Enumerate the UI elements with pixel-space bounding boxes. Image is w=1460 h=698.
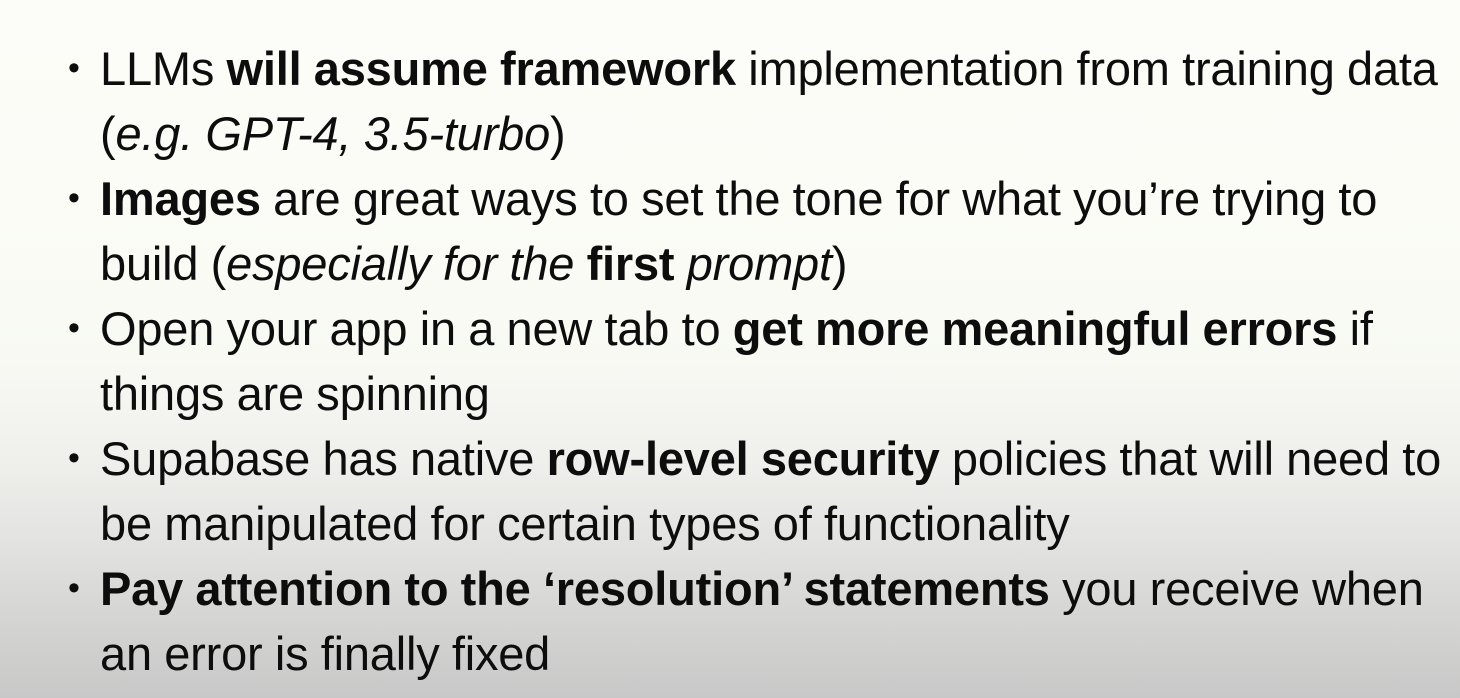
bullet-text: Images are great ways to set the tone fo… (100, 166, 1446, 296)
bullet-text: Pay attention to the ‘resolution’ statem… (100, 556, 1446, 686)
text-run: Open your app in a new tab to (100, 302, 733, 355)
bullet-text: Open your app in a new tab to get more m… (100, 296, 1446, 426)
text-run: e.g. GPT-4, 3.5-turbo (115, 107, 550, 160)
bullet-item: •Supabase has native row-level security … (0, 426, 1460, 556)
slide-canvas: •LLMs will assume framework implementati… (0, 0, 1460, 698)
text-run: especially for the (226, 237, 586, 290)
bullet-point-icon: • (68, 166, 80, 231)
text-run: first (587, 237, 675, 290)
bullet-item: •Pay attention to the ‘resolution’ state… (0, 556, 1460, 686)
bullet-text: LLMs will assume framework implementatio… (100, 36, 1446, 166)
text-run: prompt (674, 237, 831, 290)
text-run: ) (550, 107, 565, 160)
bullet-item: •LLMs will assume framework implementati… (0, 36, 1460, 166)
text-run: row-level security (547, 432, 940, 485)
bullet-point-icon: • (68, 36, 80, 101)
bullet-list: •LLMs will assume framework implementati… (0, 36, 1460, 686)
text-run: get more meaningful errors (733, 302, 1337, 355)
bullet-point-icon: • (68, 426, 80, 491)
bullet-point-icon: • (68, 296, 80, 361)
text-run: Pay attention to the ‘resolution’ statem… (100, 562, 1050, 615)
text-run: ) (832, 237, 847, 290)
text-run: Supabase has native (100, 432, 547, 485)
bullet-point-icon: • (68, 556, 80, 621)
bullet-text: Supabase has native row-level security p… (100, 426, 1446, 556)
text-run: will assume framework (227, 42, 736, 95)
bullet-item: •Images are great ways to set the tone f… (0, 166, 1460, 296)
text-run: Images (100, 172, 261, 225)
bullet-item: •Open your app in a new tab to get more … (0, 296, 1460, 426)
text-run: LLMs (100, 42, 227, 95)
